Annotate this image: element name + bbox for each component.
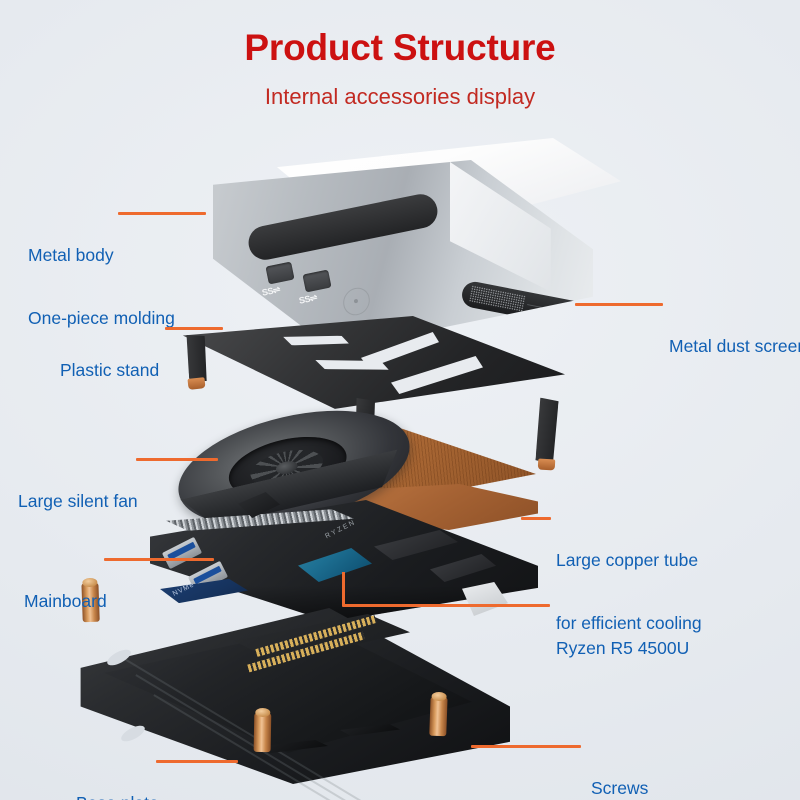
product-structure-diagram: Product Structure Internal accessories d… (0, 0, 800, 800)
leader-base-plate (156, 760, 238, 763)
stand-copper-tip-1 (187, 377, 205, 390)
callout-base-plate-line1: Base plate (76, 793, 159, 800)
callout-metal-body-line1: Metal body (28, 245, 175, 266)
dust-screen-mesh (469, 285, 526, 312)
callout-screws: Screws (591, 736, 648, 800)
page-title: Product Structure (0, 27, 800, 69)
leader-mainboard (104, 558, 214, 561)
usb-superspeed-icon-2: SS⇌ (298, 292, 318, 306)
callout-dust-screen-line1: Metal dust screen (669, 336, 800, 357)
callout-screws-line1: Screws (591, 778, 648, 799)
callout-dust-screen: Metal dust screen (669, 294, 800, 399)
screw-post-2 (254, 708, 272, 752)
callout-cpu: Ryzen R5 4500U (556, 596, 689, 701)
leader-cpu-horizontal (342, 604, 550, 607)
leader-metal-body (118, 212, 206, 215)
speaker-grille (246, 191, 441, 263)
leader-dust-screen (575, 303, 663, 306)
usb-port-1 (265, 262, 294, 285)
screw-shaft-2 (254, 713, 272, 752)
leader-plastic-stand (165, 327, 223, 330)
callout-silent-fan: Large silent fan (18, 449, 138, 554)
leader-silent-fan (136, 458, 218, 461)
screw-shaft-3 (429, 697, 447, 737)
usb-superspeed-icon-1: SS⇌ (261, 284, 281, 298)
screw-head-2 (255, 708, 270, 717)
leader-screws (471, 745, 581, 748)
callout-plastic-stand-line1: Plastic stand (60, 360, 159, 381)
screw-post-3 (429, 692, 448, 737)
usb-port-2 (302, 270, 331, 293)
callout-base-plate: Base plate (76, 751, 159, 800)
callout-mainboard-line1: Mainboard (24, 591, 107, 612)
callout-plastic-stand: Plastic stand (60, 318, 159, 423)
base-plate-cutout-2 (119, 723, 147, 745)
page-subtitle: Internal accessories display (0, 84, 800, 110)
callout-cpu-line1: Ryzen R5 4500U (556, 638, 689, 659)
callout-mainboard: Mainboard (24, 549, 107, 654)
callout-copper-tube-line1: Large copper tube (556, 550, 702, 571)
callout-silent-fan-line1: Large silent fan (18, 491, 138, 512)
leader-copper-tube (521, 517, 551, 520)
leader-cpu-vertical (342, 572, 345, 606)
